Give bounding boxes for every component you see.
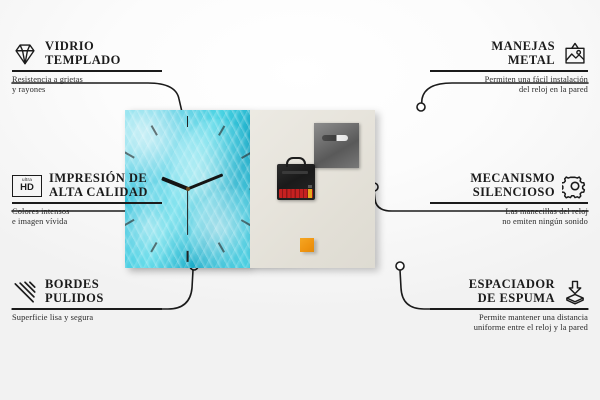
movement-vent [282,171,308,174]
feature-rule [12,308,162,310]
feature-espaciador-espuma: ESPACIADOR DE ESPUMA Permite mantener un… [430,278,588,333]
feature-mecanismo-silencioso: MECANISMO SILENCIOSO Las manecillas del … [430,172,588,227]
clock-center-hub [186,187,190,191]
ultra-hd-badge-icon: ultra HD [12,175,42,197]
clock-back-surface [250,110,375,268]
feature-title: ESPACIADOR DE ESPUMA [469,278,555,305]
gear-icon [562,173,588,199]
feature-title: MECANISMO SILENCIOSO [470,172,555,199]
feature-rule [12,70,162,72]
feature-rule [430,308,588,310]
feature-title: BORDES PULIDOS [45,278,104,305]
infographic-canvas: VIDRIO TEMPLADO Resistencia a grietas y … [0,0,600,400]
feature-rule [12,202,162,204]
feature-title: IMPRESIÓN DE ALTA CALIDAD [49,172,148,199]
feature-manejas-metal: MANEJAS METAL Permiten una fácil instala… [430,40,588,95]
feature-subtitle: Colores intensos e imagen vívida [12,207,162,227]
feature-bordes-pulidos: BORDES PULIDOS Superficie lisa y segura [12,278,162,323]
movement-adjust-knob [308,185,312,188]
connector-dot-espaciador [396,262,404,270]
quartz-movement-mechanism [277,164,315,200]
feature-subtitle: Resistencia a grietas y rayones [12,75,162,95]
foam-spacer-pad [300,238,314,252]
wall-frame-icon [562,41,588,67]
battery-compartment [279,189,313,198]
clock-back-panel [250,110,375,268]
feature-impresion-alta-calidad: ultra HD IMPRESIÓN DE ALTA CALIDAD Color… [12,172,162,227]
feature-subtitle: Las manecillas del reloj no emiten ningú… [430,207,588,227]
product-images [125,110,375,268]
metal-hanger-plate [314,123,359,168]
feature-rule [430,202,588,204]
feature-subtitle: Superficie lisa y segura [12,313,162,323]
polished-edges-icon [12,279,38,305]
feature-subtitle: Permiten una fácil instalación del reloj… [430,75,588,95]
badge-hd-text: HD [20,183,34,193]
feature-title: VIDRIO TEMPLADO [45,40,121,67]
feature-title: MANEJAS METAL [491,40,555,67]
connector-dot-manejas-metal [417,103,425,111]
press-down-foam-icon [562,279,588,305]
feature-subtitle: Permite mantener una distancia uniforme … [430,313,588,333]
clock-hand-second [187,189,188,235]
feature-vidrio-templado: VIDRIO TEMPLADO Resistencia a grietas y … [12,40,162,95]
diamond-icon [12,41,38,67]
hanger-keyhole-slot [322,135,348,141]
feature-rule [430,70,588,72]
movement-hanging-loop [286,157,306,167]
